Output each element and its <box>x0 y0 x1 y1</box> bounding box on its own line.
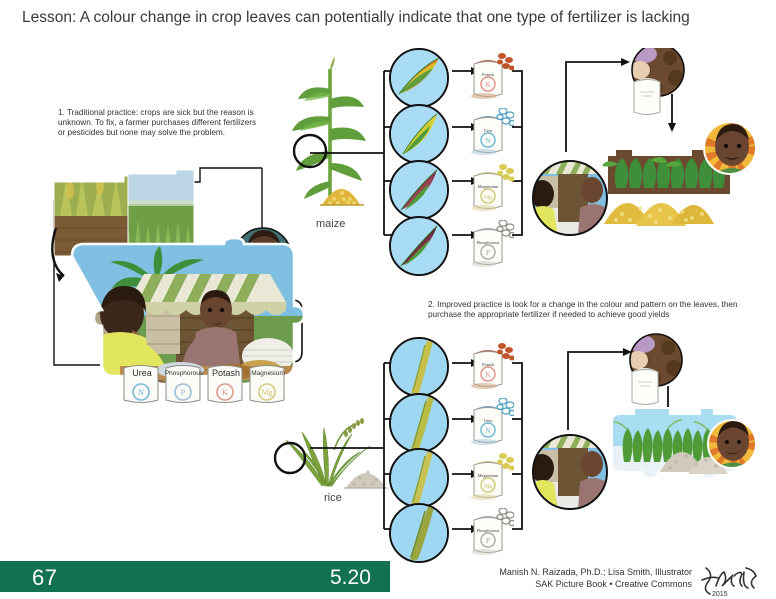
fertilizer-bag-phosphorous-maize: P Phosphorous <box>462 220 514 270</box>
shelf-label-urea: Urea <box>122 368 162 378</box>
bag-label-urea: Urea <box>462 418 514 423</box>
maize-leaf-circle-3 <box>389 160 449 220</box>
bag-label-magnesium: Magnesium <box>462 473 514 478</box>
svg-text:Mg: Mg <box>261 388 272 397</box>
svg-text:P: P <box>181 388 186 397</box>
fertilizer-bag-magnesium-rice: Mg Magnesium <box>462 453 514 503</box>
shop-shelf-fertilizer-row: N P K Mg Urea Phosphorous Potash Magnesi… <box>120 362 300 408</box>
credits-block: Manish N. Raizada, Ph.D.; Lisa Smith, Il… <box>470 566 692 590</box>
section-number: 5.20 <box>330 566 371 590</box>
caption-improved-practice: 2. Improved practice is look for a chang… <box>428 300 758 320</box>
svg-text:P: P <box>486 249 490 257</box>
bag-label-urea: Urea <box>462 128 514 133</box>
credit-line-book: SAK Picture Book • Creative Commons <box>470 578 692 590</box>
page-title: Lesson: A colour change in crop leaves c… <box>22 8 752 27</box>
bag-label-magnesium: Magnesium <box>462 184 514 189</box>
illustrator-signature: 2015 <box>700 564 770 598</box>
svg-text:N: N <box>485 427 490 435</box>
maize-leaf-circle-2 <box>389 104 449 164</box>
fertilizer-bag-magnesium-maize: Mg Magnesium <box>462 164 514 214</box>
svg-text:K: K <box>222 388 228 397</box>
fertilizer-bag-phosphorous-rice: P Phosphorous <box>462 508 514 558</box>
rice-leaf-circle-4 <box>389 503 449 563</box>
rice-outcome-cluster <box>520 330 776 510</box>
bag-label-potash: Potash <box>462 362 514 367</box>
fertilizer-bag-potash-maize: K Potash <box>462 52 514 102</box>
rice-leaf-circle-2 <box>389 393 449 453</box>
page-number: 67 <box>32 565 57 591</box>
svg-text:N: N <box>485 137 490 145</box>
svg-text:Mg: Mg <box>484 484 492 490</box>
fertilizer-bag-urea-rice: N Urea <box>462 398 514 448</box>
svg-text:2015: 2015 <box>712 591 728 598</box>
maize-outcome-cluster <box>530 48 776 238</box>
svg-text:K: K <box>485 371 490 379</box>
bag-label-potash: Potash <box>462 72 514 77</box>
rice-leaf-circle-3 <box>389 448 449 508</box>
svg-text:Mg: Mg <box>484 195 492 201</box>
shop-circle-maize <box>530 158 610 236</box>
fertilizer-bag-potash-rice: K Potash <box>462 342 514 392</box>
rice-leaf-circle-1 <box>389 337 449 397</box>
bag-label-phosphorous: Phosphorous <box>462 528 514 533</box>
bag-label-phosphorous: Phosphorous <box>462 240 514 245</box>
svg-text:N: N <box>138 388 144 397</box>
svg-text:P: P <box>486 537 490 545</box>
shelf-label-phosphorous: Phosphorous <box>164 370 204 377</box>
fertilizer-bag-urea-maize: N Urea <box>462 108 514 158</box>
shelf-label-potash: Potash <box>206 368 246 378</box>
shelf-label-magnesium: Magnesium <box>248 370 288 377</box>
svg-text:K: K <box>485 81 490 89</box>
credit-line-authors: Manish N. Raizada, Ph.D.; Lisa Smith, Il… <box>470 566 692 578</box>
maize-harvest-heaps <box>604 203 714 226</box>
maize-leaf-circle-4 <box>389 216 449 276</box>
maize-leaf-circle-1 <box>389 48 449 108</box>
caption-traditional-practice: 1. Traditional practice: crops are sick … <box>58 108 263 139</box>
shop-circle-rice <box>528 432 610 510</box>
